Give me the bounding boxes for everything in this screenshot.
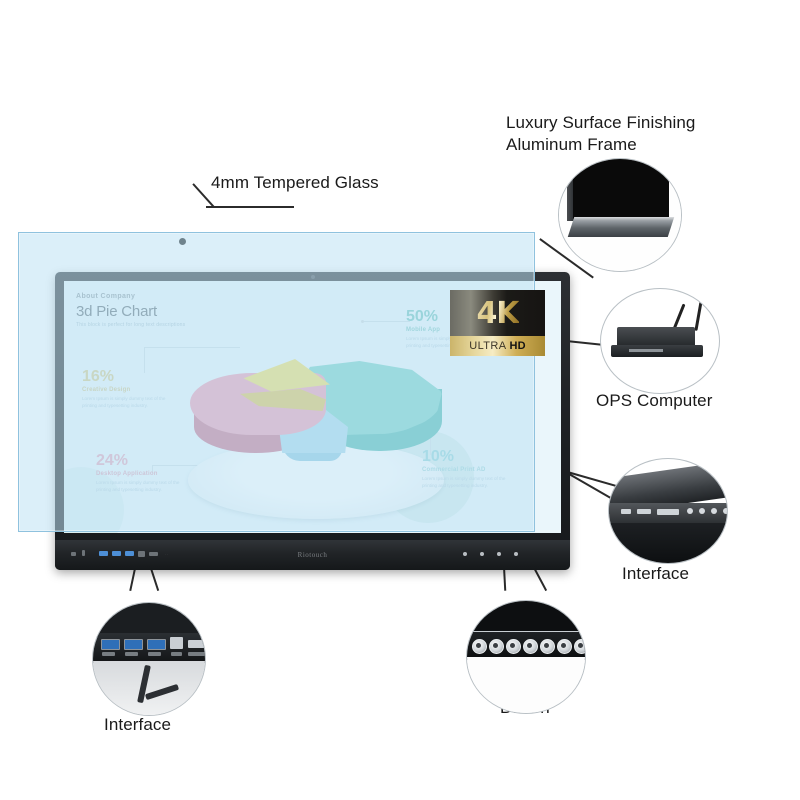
port-label (148, 652, 161, 656)
detail-circle-aluminum-frame-corner (558, 158, 682, 272)
badge-hd-text: HD (509, 340, 525, 352)
badge-ultra-text: ULTRA (469, 340, 506, 352)
ops-antenna (694, 301, 702, 331)
badge-bottom: ULTRA HD (450, 336, 545, 356)
usb-port[interactable] (147, 639, 166, 650)
port-label (125, 652, 138, 656)
bezel-hdmi-port[interactable] (149, 552, 158, 556)
bezel-button[interactable] (480, 552, 484, 556)
side-round-port[interactable] (723, 508, 728, 514)
panel-lower-surface (609, 523, 728, 563)
brand-logo: Riotouch (298, 551, 328, 559)
ops-module-body (617, 327, 695, 347)
detail-circle-ops-computer (600, 288, 720, 394)
photo-floor (467, 657, 586, 714)
port-label (102, 652, 115, 656)
usb-b-port[interactable] (170, 637, 183, 649)
badge-top: 4K (450, 290, 545, 336)
bezel-wall (467, 601, 586, 633)
leader-line-glass-horizontal (206, 206, 294, 208)
side-port[interactable] (637, 509, 651, 514)
ops-connector-slot (629, 349, 663, 352)
port-label (188, 652, 205, 656)
side-port-hdmi[interactable] (657, 509, 679, 515)
front-button[interactable] (574, 639, 586, 654)
side-round-port[interactable] (699, 508, 705, 514)
4k-ultra-hd-badge: 4K ULTRA HD (450, 290, 545, 356)
port-label (171, 652, 182, 656)
bezel-port-small (82, 550, 85, 556)
frame-aluminum-chamfer (568, 217, 674, 237)
usb-port[interactable] (101, 639, 120, 650)
front-button[interactable] (506, 639, 521, 654)
display-bottom-bezel: Riotouch · · (55, 540, 570, 570)
bezel-button[interactable] (514, 552, 518, 556)
usb-port[interactable] (124, 639, 143, 650)
front-button[interactable] (557, 639, 572, 654)
front-button[interactable] (489, 639, 504, 654)
callout-label-tempered-glass: 4mm Tempered Glass (211, 172, 379, 194)
bezel-button[interactable] (463, 552, 467, 556)
bezel-button[interactable] (497, 552, 501, 556)
callout-label-interface-front: Interface (104, 714, 171, 736)
bezel-wall (93, 603, 206, 637)
front-button[interactable] (472, 639, 487, 654)
detail-circle-front-interface (92, 602, 206, 716)
front-button[interactable] (540, 639, 555, 654)
tempered-glass-overlay (18, 232, 535, 532)
side-round-port[interactable] (687, 508, 693, 514)
frame-black-screen (573, 158, 669, 219)
hdmi-port[interactable] (188, 640, 206, 648)
bezel-port-small (71, 552, 76, 556)
product-feature-diagram: 4mm Tempered Glass Luxury Surface Finish… (0, 0, 800, 800)
bezel-port-label: · · (165, 552, 168, 556)
side-round-port[interactable] (711, 508, 717, 514)
bezel-usb-port[interactable] (112, 551, 121, 556)
callout-label-interface-side: Interface (622, 563, 689, 585)
detail-circle-side-interface (608, 458, 728, 564)
badge-resolution-text: 4K (476, 296, 518, 331)
detail-circle-button-row (466, 600, 586, 714)
bezel-usb-port[interactable] (125, 551, 134, 556)
front-button[interactable] (523, 639, 538, 654)
bezel-usb-b-port[interactable] (138, 551, 145, 557)
side-port[interactable] (621, 509, 631, 514)
callout-label-aluminum-frame: Luxury Surface Finishing Aluminum Frame (506, 112, 696, 156)
bezel-usb-port[interactable] (99, 551, 108, 556)
